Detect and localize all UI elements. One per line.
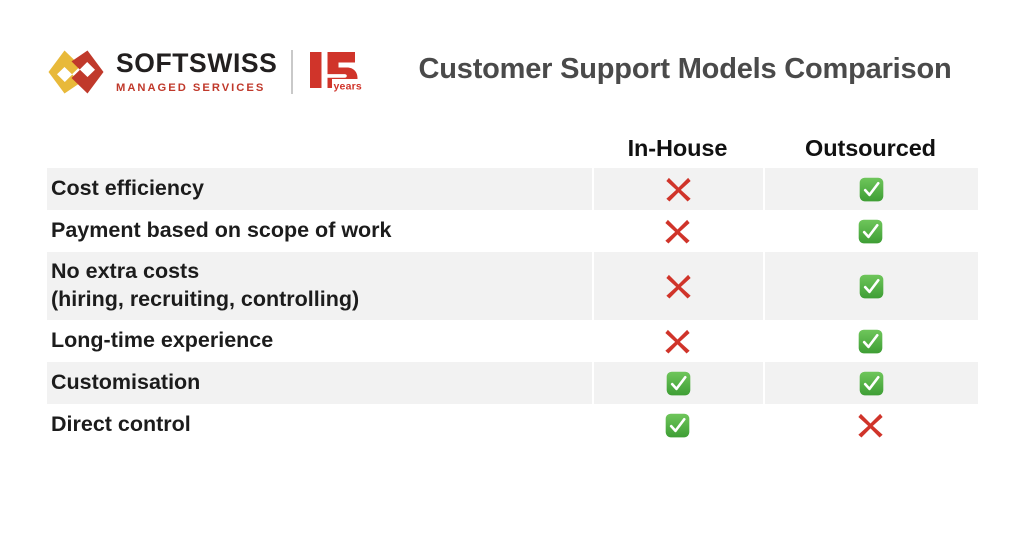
svg-text:years: years <box>334 81 362 93</box>
row-label-line1: No extra costs <box>51 258 359 286</box>
brand-text-block: SOFTSWISS MANAGED SERVICES <box>116 49 277 95</box>
row-label: Cost efficiency <box>47 168 592 210</box>
row-label-line1: Direct control <box>51 412 191 436</box>
cell-in-house <box>592 320 763 362</box>
brand-name: SOFTSWISS <box>116 50 277 77</box>
row-label-line1: Customisation <box>51 370 200 394</box>
comparison-table: In-House Outsourced Cost efficiency <box>47 128 978 446</box>
column-header-in-house: In-House <box>592 128 763 168</box>
cell-in-house <box>592 252 763 320</box>
row-label: Payment based on scope of work <box>47 210 592 252</box>
red-cross-icon <box>663 217 692 246</box>
table-row: Payment based on scope of work <box>47 210 978 252</box>
cell-outsourced <box>763 210 978 252</box>
row-label-line1: Cost efficiency <box>51 176 204 200</box>
red-cross-icon <box>856 411 885 440</box>
green-check-icon <box>857 218 884 245</box>
brand-divider <box>291 50 293 94</box>
row-label: Customisation <box>47 362 592 404</box>
row-label: Long-time experience <box>47 320 592 362</box>
red-cross-icon <box>664 175 693 204</box>
cell-outsourced <box>763 168 978 210</box>
cell-in-house <box>592 404 763 446</box>
row-label-line1: Payment based on scope of work <box>51 218 392 242</box>
green-check-icon <box>858 273 885 300</box>
table-row: Long-time experience <box>47 320 978 362</box>
anniversary-15-years-badge: years <box>309 49 363 95</box>
green-check-icon <box>857 328 884 355</box>
softswiss-diamond-logo-icon <box>47 49 105 95</box>
red-cross-icon <box>663 327 692 356</box>
cell-outsourced <box>763 362 978 404</box>
column-header-outsourced: Outsourced <box>763 128 978 168</box>
brand-lockup: SOFTSWISS MANAGED SERVICES years <box>47 46 363 98</box>
green-check-icon <box>858 370 885 397</box>
cell-in-house <box>592 362 763 404</box>
table-row: Cost efficiency <box>47 168 978 210</box>
row-label-line2: (hiring, recruiting, controlling) <box>51 286 359 314</box>
row-label: Direct control <box>47 404 592 446</box>
green-check-icon <box>858 176 885 203</box>
cell-in-house <box>592 210 763 252</box>
page-title: Customer Support Models Comparison <box>385 54 985 86</box>
row-label: No extra costs (hiring, recruiting, cont… <box>47 252 592 320</box>
red-cross-icon <box>664 272 693 301</box>
cell-outsourced <box>763 320 978 362</box>
table-header-row: In-House Outsourced <box>47 128 978 168</box>
brand-subtitle: MANAGED SERVICES <box>116 83 277 94</box>
table-row: Customisation <box>47 362 978 404</box>
page-header: SOFTSWISS MANAGED SERVICES years Custome… <box>0 0 1024 120</box>
row-label-line1: Long-time experience <box>51 328 273 352</box>
green-check-icon <box>664 412 691 439</box>
green-check-icon <box>665 370 692 397</box>
table-row: No extra costs (hiring, recruiting, cont… <box>47 252 978 320</box>
table-row: Direct control <box>47 404 978 446</box>
cell-in-house <box>592 168 763 210</box>
cell-outsourced <box>763 404 978 446</box>
feature-column-header <box>47 128 592 168</box>
cell-outsourced <box>763 252 978 320</box>
